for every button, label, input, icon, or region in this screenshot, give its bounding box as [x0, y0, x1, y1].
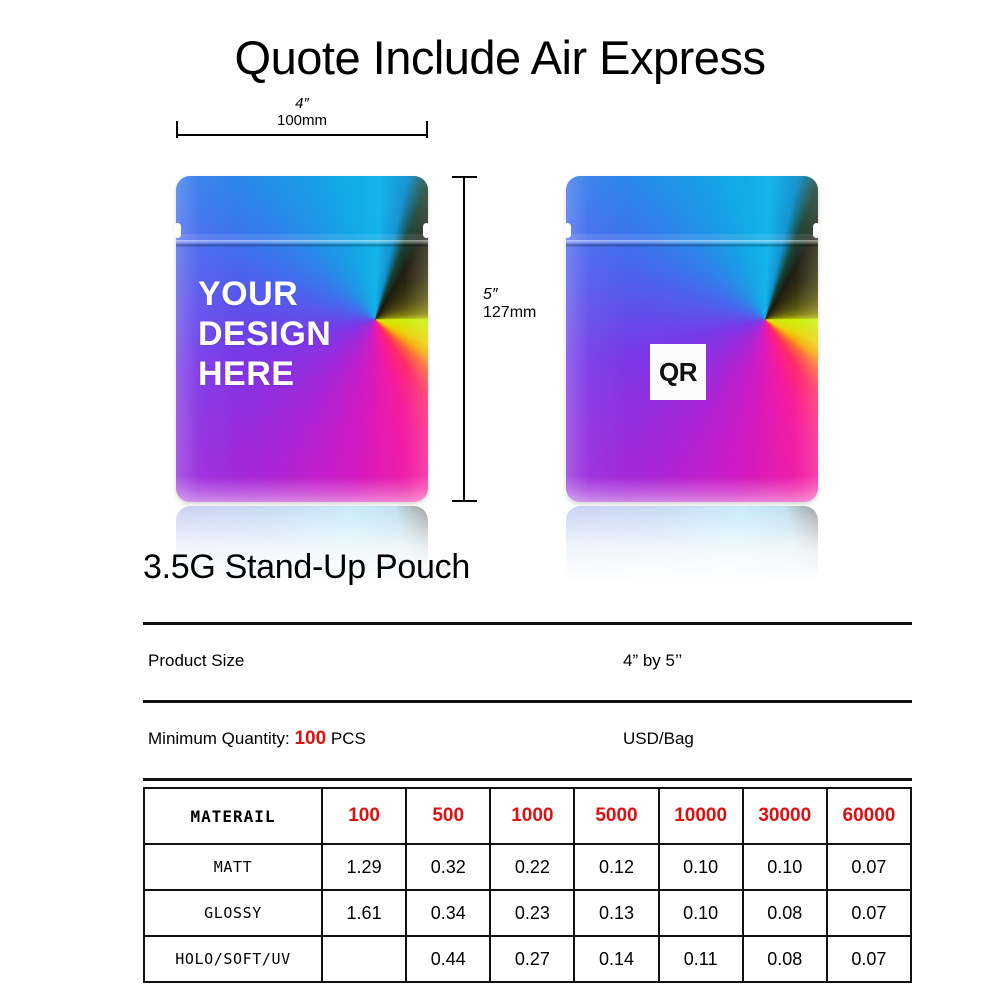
width-mm-label: 100mm — [176, 112, 428, 129]
price-cell: 0.07 — [827, 844, 911, 890]
header-qty-1000: 1000 — [490, 788, 574, 844]
pouch-right-body: QR — [566, 176, 818, 502]
pouch-zipper-line — [566, 240, 818, 247]
header-qty-100: 100 — [322, 788, 406, 844]
design-line-2: DESIGN — [198, 314, 331, 354]
price-cell: 0.23 — [490, 890, 574, 936]
table-row: MATT 1.29 0.32 0.22 0.12 0.10 0.10 0.07 — [144, 844, 911, 890]
price-cell: 0.14 — [574, 936, 658, 982]
price-cell: 0.34 — [406, 890, 490, 936]
price-cell: 0.27 — [490, 936, 574, 982]
width-dimension-line — [176, 134, 428, 136]
pouch-right: QR — [566, 176, 818, 502]
table-row: HOLO/SOFT/UV 0.44 0.27 0.14 0.11 0.08 0.… — [144, 936, 911, 982]
tear-notch-right — [813, 223, 820, 238]
spec-row-product-size: Product Size 4” by 5’’ — [143, 622, 912, 700]
material-name: MATT — [144, 844, 322, 890]
product-size-value: 4” by 5’’ — [623, 651, 682, 671]
price-cell: 0.08 — [743, 890, 827, 936]
price-cell: 1.61 — [322, 890, 406, 936]
material-name: HOLO/SOFT/UV — [144, 936, 322, 982]
header-qty-30000: 30000 — [743, 788, 827, 844]
spec-row-minimum-quantity: Minimum Quantity: 100 PCS USD/Bag — [143, 700, 912, 778]
pouch-left: YOUR DESIGN HERE — [176, 176, 428, 502]
price-cell — [322, 936, 406, 982]
price-cell: 0.10 — [743, 844, 827, 890]
width-inch-label: 4″ — [176, 95, 428, 112]
price-cell: 0.12 — [574, 844, 658, 890]
minimum-quantity-number: 100 — [294, 728, 326, 749]
price-cell: 0.07 — [827, 936, 911, 982]
tear-notch-left — [564, 223, 571, 238]
header-qty-10000: 10000 — [659, 788, 743, 844]
price-cell: 0.10 — [659, 844, 743, 890]
header-qty-500: 500 — [406, 788, 490, 844]
height-dimension: 5″ 127mm — [452, 176, 552, 502]
header-qty-60000: 60000 — [827, 788, 911, 844]
price-cell: 0.22 — [490, 844, 574, 890]
pouch-left-body: YOUR DESIGN HERE — [176, 176, 428, 502]
table-row: GLOSSY 1.61 0.34 0.23 0.13 0.10 0.08 0.0… — [144, 890, 911, 936]
height-inch-label: 5″ — [483, 286, 498, 304]
price-table-header-row: MATERAIL 100 500 1000 5000 10000 30000 6… — [144, 788, 911, 844]
minimum-quantity-unit: PCS — [331, 729, 366, 748]
height-tick-top — [452, 176, 477, 178]
tear-notch-right — [423, 223, 430, 238]
height-mm-label: 127mm — [483, 304, 536, 322]
height-tick-bottom — [452, 500, 477, 502]
qr-code-label: QR — [650, 344, 706, 400]
price-cell: 0.10 — [659, 890, 743, 936]
header-material: MATERAIL — [144, 788, 322, 844]
minimum-quantity-label: Minimum Quantity: — [148, 729, 290, 748]
page-title: Quote Include Air Express — [0, 34, 1000, 81]
header-qty-5000: 5000 — [574, 788, 658, 844]
pouch-bottom-gusset — [176, 476, 428, 502]
price-cell: 1.29 — [322, 844, 406, 890]
product-size-label: Product Size — [148, 651, 244, 671]
pouch-design-text: YOUR DESIGN HERE — [198, 274, 331, 394]
price-table: MATERAIL 100 500 1000 5000 10000 30000 6… — [143, 787, 912, 983]
price-cell: 0.07 — [827, 890, 911, 936]
price-cell: 0.32 — [406, 844, 490, 890]
product-heading: 3.5G Stand-Up Pouch — [143, 548, 470, 587]
pouch-sheen — [566, 176, 818, 502]
price-table-body: MATERAIL 100 500 1000 5000 10000 30000 6… — [144, 788, 911, 982]
divider-bottom — [143, 778, 912, 781]
pouch-right-reflection — [566, 506, 818, 582]
minimum-quantity-group: Minimum Quantity: 100 PCS — [148, 728, 366, 750]
pouch-zipper-line — [176, 240, 428, 247]
design-line-3: HERE — [198, 354, 331, 394]
width-dimension: 4″ 100mm — [176, 96, 428, 141]
material-name: GLOSSY — [144, 890, 322, 936]
price-cell: 0.08 — [743, 936, 827, 982]
design-line-1: YOUR — [198, 274, 331, 314]
price-cell: 0.11 — [659, 936, 743, 982]
currency-label: USD/Bag — [623, 729, 694, 749]
pouch-bottom-gusset — [566, 476, 818, 502]
price-cell: 0.44 — [406, 936, 490, 982]
price-cell: 0.13 — [574, 890, 658, 936]
height-dimension-line — [463, 176, 465, 502]
tear-notch-left — [174, 223, 181, 238]
